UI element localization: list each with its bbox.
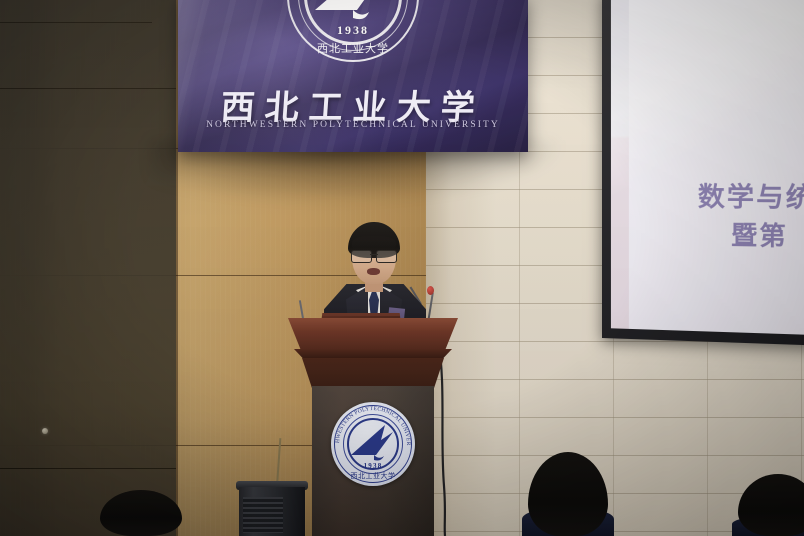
audience-head [100, 490, 182, 536]
emblem-year: 1938 [287, 23, 419, 38]
emblem-chinese-mark: 西北工业大学 [331, 471, 415, 481]
npu-emblem-banner: NORTHWESTERN POLYTECHNICAL UNIVERSITY 19… [287, 0, 419, 62]
equipment-vent-grille [243, 497, 283, 533]
glasses-icon [350, 250, 398, 261]
lectern-midsection [302, 358, 444, 388]
audience-member-center [508, 440, 628, 536]
audience-head [528, 452, 608, 536]
presentation-photo: NORTHWESTERN POLYTECHNICAL UNIVERSITY 19… [0, 0, 804, 536]
door-edge [0, 88, 176, 89]
banner-english-title: NORTHWESTERN POLYTECHNICAL UNIVERSITY [178, 120, 528, 130]
screen-glare [611, 0, 804, 335]
projection-screen: 数学与统计 暨第 [602, 0, 804, 346]
glasses-lens-right [376, 250, 397, 263]
emblem-chinese-mark: 西北工业大学 [287, 40, 419, 56]
glasses-lens-left [351, 250, 372, 263]
npu-emblem-lectern: NORTHWESTERN POLYTECHNICAL UNIVERSITY 19… [331, 402, 415, 486]
npu-hanging-banner: NORTHWESTERN POLYTECHNICAL UNIVERSITY 19… [178, 0, 528, 152]
projection-screen-surface: 数学与统计 暨第 [611, 0, 804, 335]
door-knob-icon[interactable] [42, 428, 48, 434]
emblem-year: 1938 [331, 462, 415, 470]
audience-member-left [86, 488, 196, 536]
presenter-mouth [367, 268, 380, 275]
lectern-lip [294, 349, 452, 359]
dark-doorway [0, 0, 176, 536]
emblem-bird-arrow-icon [313, 0, 393, 22]
emblem-bird-arrow-icon [350, 424, 398, 462]
glasses-bridge [370, 254, 378, 255]
lectern-desktop [288, 318, 458, 352]
audience-member-right [726, 470, 804, 536]
door-edge [0, 22, 152, 23]
lectern: NORTHWESTERN POLYTECHNICAL UNIVERSITY 19… [288, 318, 458, 536]
audience-head [738, 474, 804, 536]
door-edge [0, 468, 176, 469]
